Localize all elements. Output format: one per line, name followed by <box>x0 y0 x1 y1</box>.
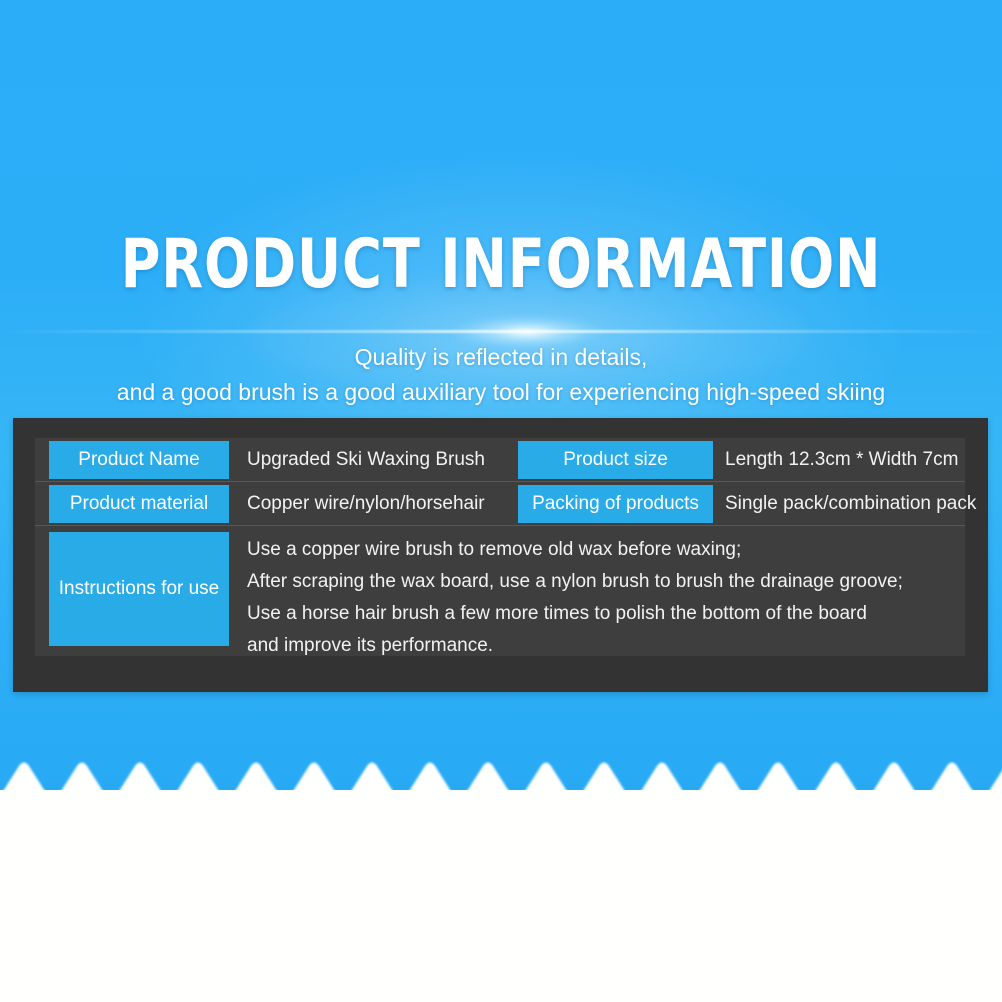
instruction-line: After scraping the wax board, use a nylo… <box>247 566 947 598</box>
subtitle-line-1: Quality is reflected in details, <box>0 340 1002 375</box>
instruction-line: Use a horse hair brush a few more times … <box>247 598 947 630</box>
cell-label-product-name: Product Name <box>49 441 229 479</box>
cell-value-instructions-for-use: Use a copper wire brush to remove old wa… <box>247 532 947 662</box>
scalloped-wave-divider <box>0 752 1002 824</box>
hero-blue-background: PRODUCT INFORMATION Quality is reflected… <box>0 0 1002 790</box>
instruction-line: Use a copper wire brush to remove old wa… <box>247 534 947 566</box>
cell-value-product-material: Copper wire/nylon/horsehair <box>247 485 485 523</box>
cell-label-instructions-for-use: Instructions for use <box>49 532 229 646</box>
table-row-instructions: Instructions for use Use a copper wire b… <box>35 526 965 656</box>
cell-value-packing-of-products: Single pack/combination pack <box>725 485 976 523</box>
cell-label-product-material: Product material <box>49 485 229 523</box>
table-row: Product material Copper wire/nylon/horse… <box>35 482 965 526</box>
cell-label-packing-of-products: Packing of products <box>518 485 713 523</box>
cell-value-product-size: Length 12.3cm * Width 7cm <box>725 441 958 479</box>
cell-value-product-name: Upgraded Ski Waxing Brush <box>247 441 485 479</box>
spec-panel: Product Name Upgraded Ski Waxing Brush P… <box>13 418 988 692</box>
product-information-banner: PRODUCT INFORMATION Quality is reflected… <box>0 0 1002 1002</box>
page-title: PRODUCT INFORMATION <box>100 228 902 302</box>
table-row: Product Name Upgraded Ski Waxing Brush P… <box>35 438 965 482</box>
cell-label-product-size: Product size <box>518 441 713 479</box>
subtitle: Quality is reflected in details, and a g… <box>0 340 1002 410</box>
bottom-white-area <box>0 818 1002 1002</box>
spec-table: Product Name Upgraded Ski Waxing Brush P… <box>35 438 965 656</box>
instruction-line: and improve its performance. <box>247 630 947 662</box>
subtitle-line-2: and a good brush is a good auxiliary too… <box>0 375 1002 410</box>
